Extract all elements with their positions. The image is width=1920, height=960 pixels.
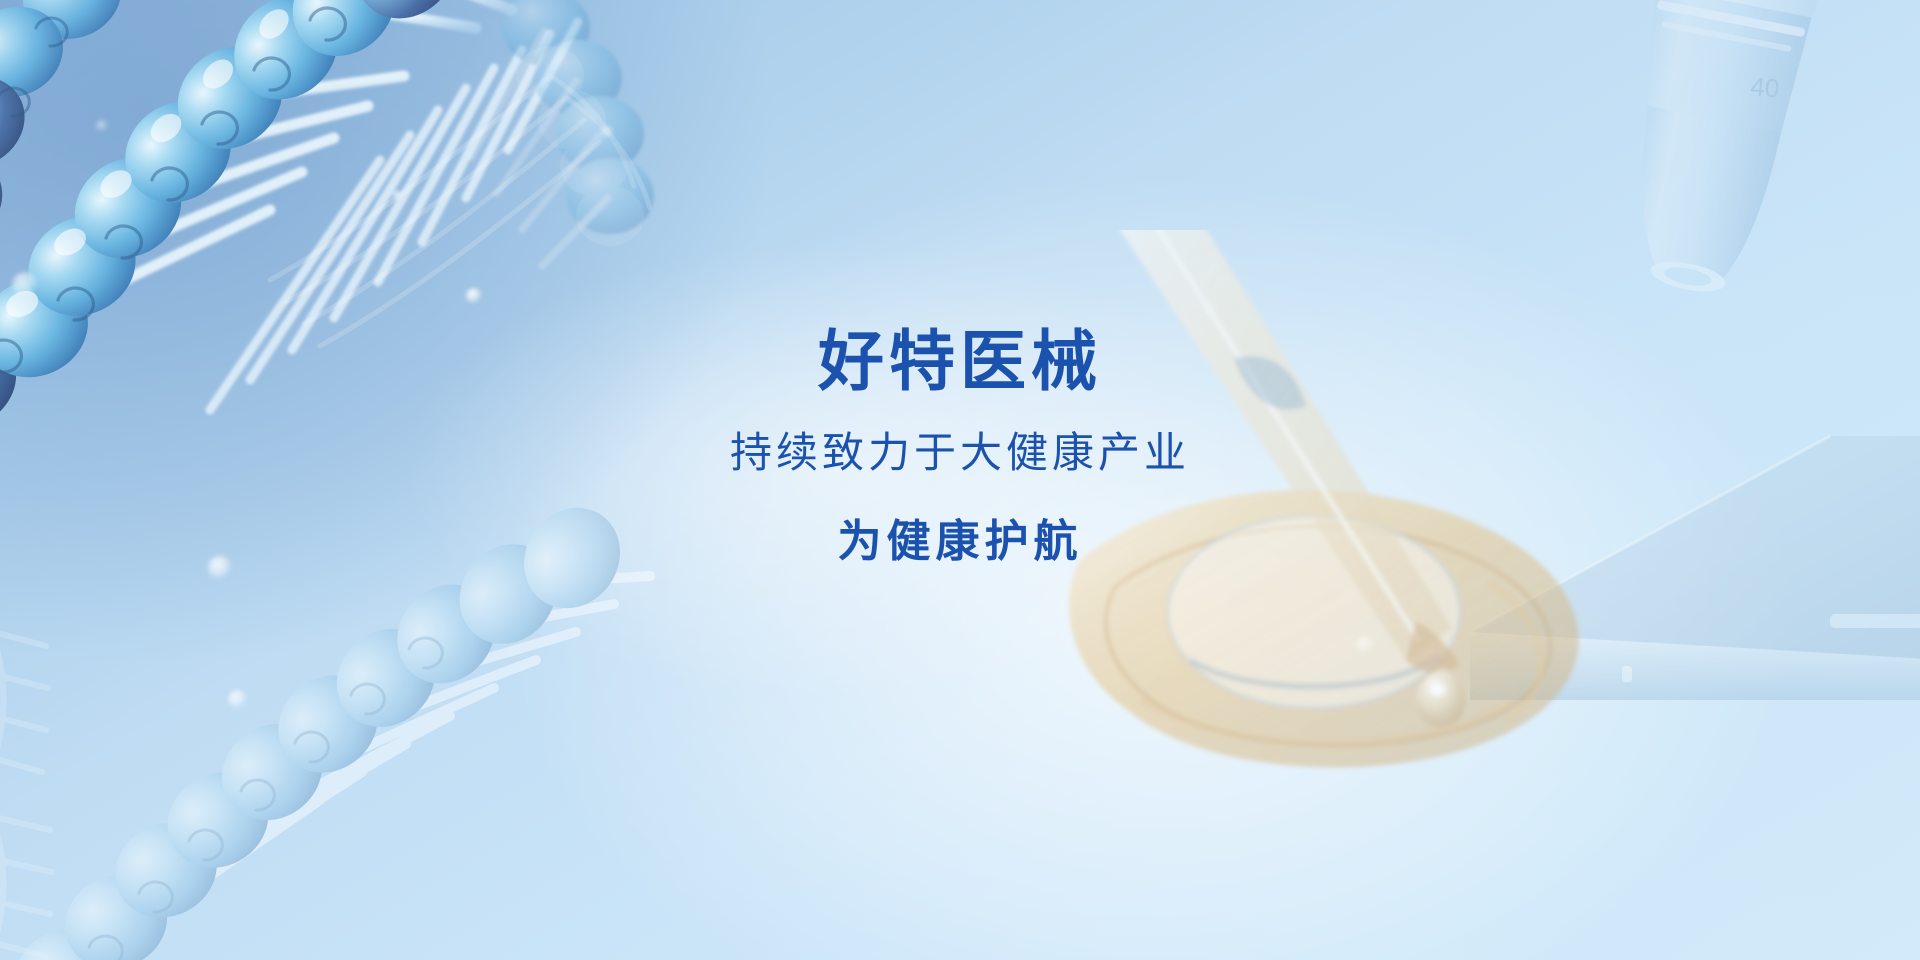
page-slogan: 为健康护航 (837, 520, 1082, 564)
headline-block: 好特医械 持续致力于大健康产业 为健康护航 (0, 0, 1920, 960)
hero-banner: 40 (0, 0, 1920, 960)
page-title: 好特医械 (818, 328, 1102, 394)
page-subtitle: 持续致力于大健康产业 (730, 432, 1190, 474)
